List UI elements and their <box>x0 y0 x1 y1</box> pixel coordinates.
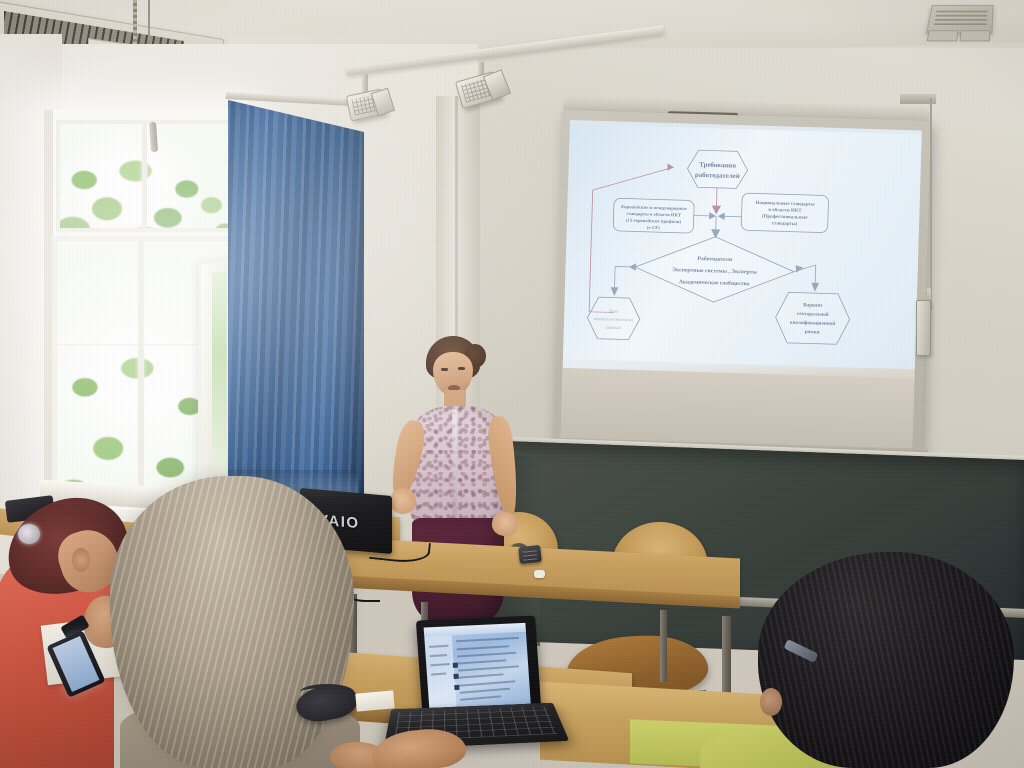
node-text-nat-std-4: стандарты) <box>772 221 798 227</box>
window-open-leaf-glass <box>212 271 227 474</box>
projection-screen-surface: Требования работодателей Европейские и м… <box>561 120 922 448</box>
presentation-remote[interactable] <box>518 545 542 564</box>
window-transom <box>56 120 234 232</box>
node-text-framework-1: Вариант <box>803 303 823 309</box>
white-paper <box>355 690 394 711</box>
node-text-framework-4: рамки <box>805 330 820 335</box>
node-text-employer-req-1: Требования <box>699 161 736 169</box>
blue-curtain[interactable] <box>228 96 364 496</box>
presenter-eye-left <box>441 368 448 371</box>
ceiling-cord-secondary <box>148 0 150 40</box>
table-leg-3 <box>722 616 731 698</box>
node-text-employer-req-2: работодателей <box>695 172 740 180</box>
node-text-diamond-1: Работодатели <box>698 255 734 263</box>
audience-dark-hair <box>758 552 1014 768</box>
audience-dark-ear <box>760 688 782 716</box>
node-text-eu-std-4: (e-CF) <box>647 225 660 230</box>
node-text-nat-std-2: в области ИКТ <box>768 208 802 214</box>
node-text-db-3: данных <box>605 324 622 329</box>
projected-slide: Требования работодателей Европейские и м… <box>577 133 907 365</box>
presenter-blouse-placket <box>452 410 457 522</box>
ceiling-vent-icon <box>926 5 994 34</box>
slide-flowchart: Требования работодателей Европейские и м… <box>577 133 907 365</box>
pull-cord[interactable] <box>930 98 932 310</box>
ceiling-cord <box>133 0 137 46</box>
hair-clip <box>18 524 40 544</box>
node-text-db-1: База <box>609 308 619 313</box>
audience-blonde-hair <box>110 476 354 768</box>
pull-handle[interactable] <box>916 300 931 356</box>
node-text-framework-2: секторальной <box>797 312 829 318</box>
classroom-photo: Требования работодателей Европейские и м… <box>0 0 1024 768</box>
audience-red-ear <box>72 548 90 572</box>
eraser[interactable] <box>534 570 545 578</box>
table-leg-4 <box>660 610 667 682</box>
presenter-eye-right <box>458 367 465 370</box>
